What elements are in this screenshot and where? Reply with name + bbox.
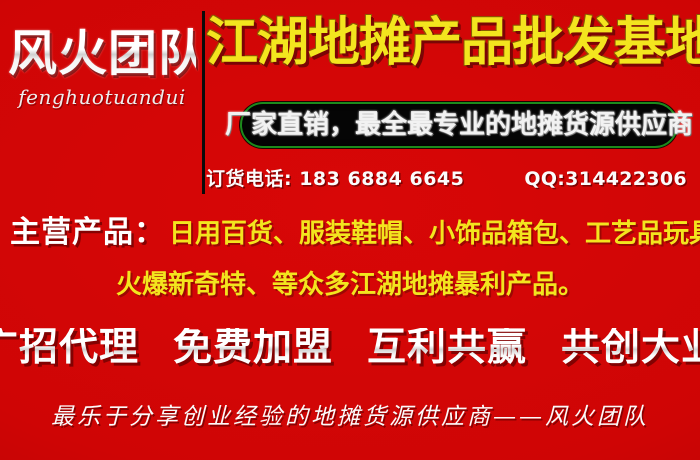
main-products-label: 主营产品：: [10, 218, 165, 248]
order-phone: 订货电话: 183 6884 6645: [206, 164, 464, 191]
contact-row: 订货电话: 183 6884 6645 QQ:314422306: [206, 164, 700, 191]
footer-tagline: 最乐于分享创业经验的地摊货源供应商——风火团队: [0, 406, 700, 429]
brand-name-chinese: 风火团队: [8, 28, 196, 79]
brand-name-pinyin: fenghuotuandui: [8, 85, 196, 109]
slogan-row: 广招代理 免费加盟 互利共赢 共创大业: [0, 328, 700, 367]
subtitle-banner: 厂家直销，最全最专业的地摊货源供应商: [240, 102, 678, 148]
slogan-item: 互利共赢: [367, 328, 527, 367]
brand-logo: 风火团队 fenghuotuandui: [8, 28, 196, 109]
main-products-row-1: 主营产品： 日用百货、服装鞋帽、小饰品箱包、工艺品玩具、: [10, 218, 700, 248]
subtitle-banner-text: 厂家直销，最全最专业的地摊货源供应商: [225, 112, 693, 138]
slogan-item: 广招代理: [0, 328, 139, 367]
qq-number: QQ:314422306: [524, 168, 686, 190]
advertisement-poster: 风火团队 fenghuotuandui 江湖地摊产品批发基地 厂家直销，最全最专…: [0, 0, 700, 460]
slogan-item: 免费加盟: [173, 328, 333, 367]
main-products-list-line-2: 火爆新奇特、等众多江湖地摊暴利产品。: [0, 272, 700, 298]
main-products-list-line-1: 日用百货、服装鞋帽、小饰品箱包、工艺品玩具、: [169, 221, 700, 247]
slogan-item: 共创大业: [561, 328, 700, 367]
page-title: 江湖地摊产品批发基地: [206, 17, 696, 69]
vertical-divider: [202, 11, 205, 194]
